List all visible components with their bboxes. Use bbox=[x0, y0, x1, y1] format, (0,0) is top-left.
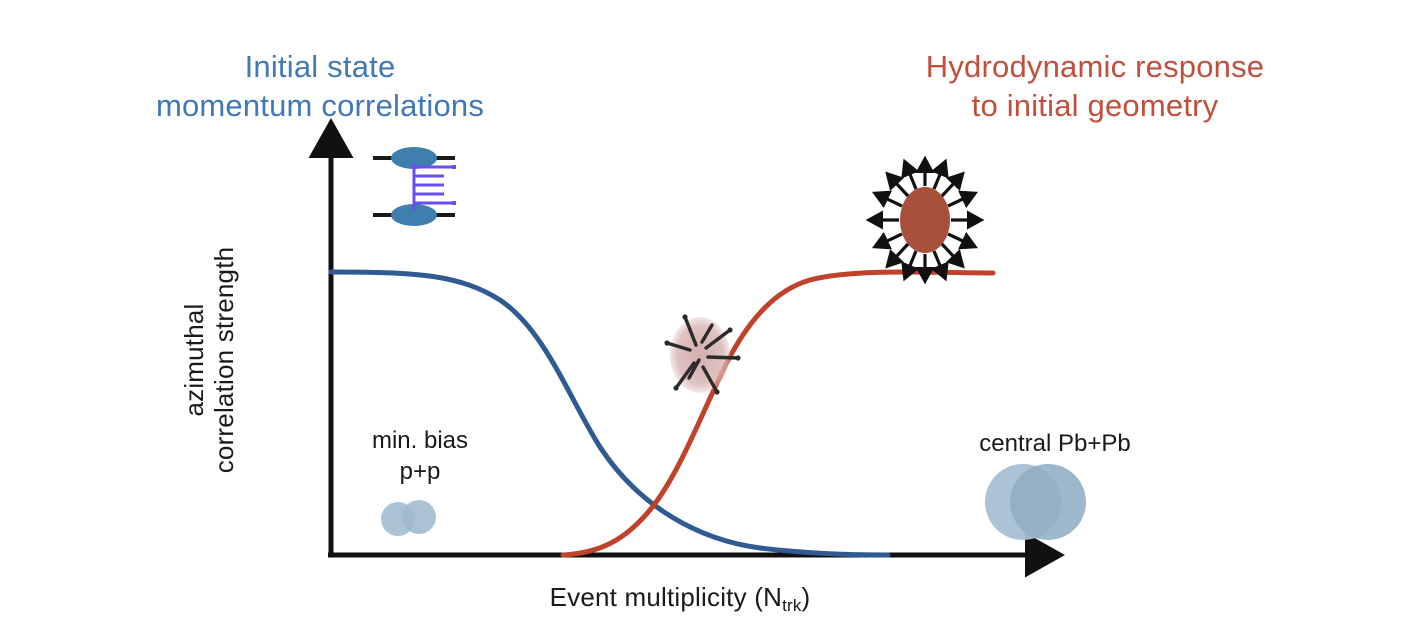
red-curve-hydro-response bbox=[563, 272, 993, 555]
pbpb-collision-icon bbox=[985, 464, 1086, 540]
flux-tube-icon bbox=[373, 147, 456, 226]
physics-schematic-figure: Initial state momentum correlations Hydr… bbox=[0, 0, 1422, 636]
mid-multiplicity-tracks-icon bbox=[664, 314, 740, 394]
pbpb-nucleus-right bbox=[1010, 464, 1086, 540]
figure-graphics bbox=[0, 0, 1422, 636]
fireball-ellipse bbox=[900, 187, 950, 253]
pp-proton-right bbox=[402, 500, 436, 534]
pp-collision-icon bbox=[381, 500, 436, 536]
radial-flow-ellipse-icon bbox=[880, 170, 970, 270]
